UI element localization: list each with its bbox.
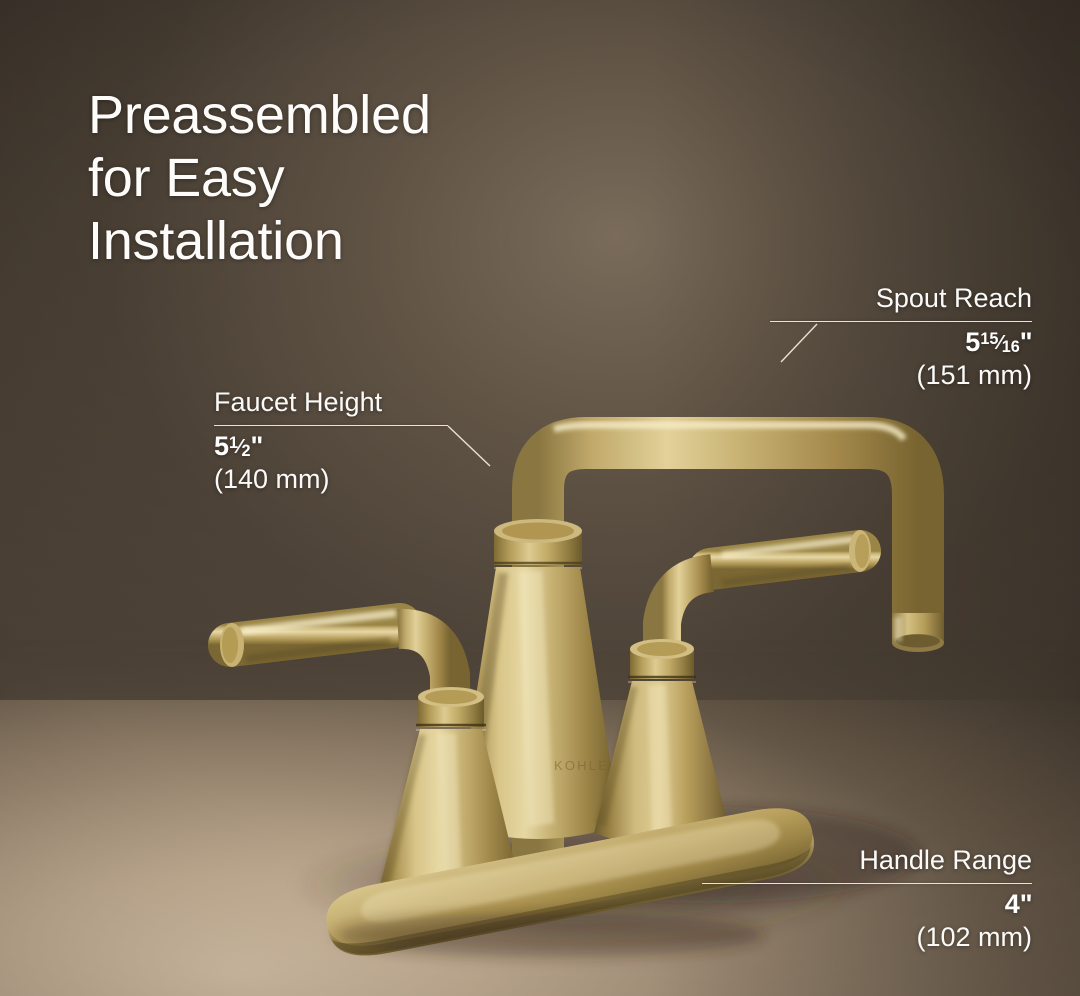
callout-handle-range-metric: (102 mm) bbox=[702, 921, 1032, 953]
callout-spout-reach-metric: (151 mm) bbox=[770, 359, 1032, 391]
faucet-height-fraction: 1⁄2 bbox=[229, 437, 250, 457]
callout-spout-reach-value: 515⁄16" bbox=[770, 326, 1032, 360]
spout-reach-whole: 5 bbox=[965, 327, 980, 357]
faucet-handle-right bbox=[594, 530, 871, 846]
product-dimension-graphic: KOHLER bbox=[0, 0, 1080, 996]
spout-reach-fraction: 15⁄16 bbox=[980, 333, 1019, 353]
leader-line-faucet-height bbox=[440, 418, 502, 474]
callout-handle-range: Handle Range 4" (102 mm) bbox=[702, 846, 1032, 954]
deck-plate-contact-shadow bbox=[335, 913, 765, 957]
callout-handle-range-rule bbox=[702, 883, 1032, 884]
handle-range-unit: " bbox=[1020, 889, 1032, 919]
callout-faucet-height-rule bbox=[214, 425, 448, 426]
faucet-height-whole: 5 bbox=[214, 431, 229, 461]
callout-spout-reach-rule bbox=[770, 321, 1032, 322]
callout-faucet-height-value: 51⁄2" bbox=[214, 430, 448, 464]
callout-spout-reach: Spout Reach 515⁄16" (151 mm) bbox=[770, 284, 1032, 392]
faucet-height-unit: " bbox=[250, 431, 262, 461]
spout-reach-unit: " bbox=[1020, 327, 1032, 357]
callout-faucet-height-metric: (140 mm) bbox=[214, 463, 448, 495]
callout-handle-range-label: Handle Range bbox=[702, 846, 1032, 876]
page-title: Preassembled for Easy Installation bbox=[88, 84, 431, 274]
callout-faucet-height: Faucet Height 51⁄2" (140 mm) bbox=[214, 388, 448, 496]
callout-handle-range-value: 4" bbox=[702, 888, 1032, 922]
callout-spout-reach-label: Spout Reach bbox=[770, 284, 1032, 314]
handle-range-whole: 4 bbox=[1005, 889, 1020, 919]
callout-faucet-height-label: Faucet Height bbox=[214, 388, 448, 418]
